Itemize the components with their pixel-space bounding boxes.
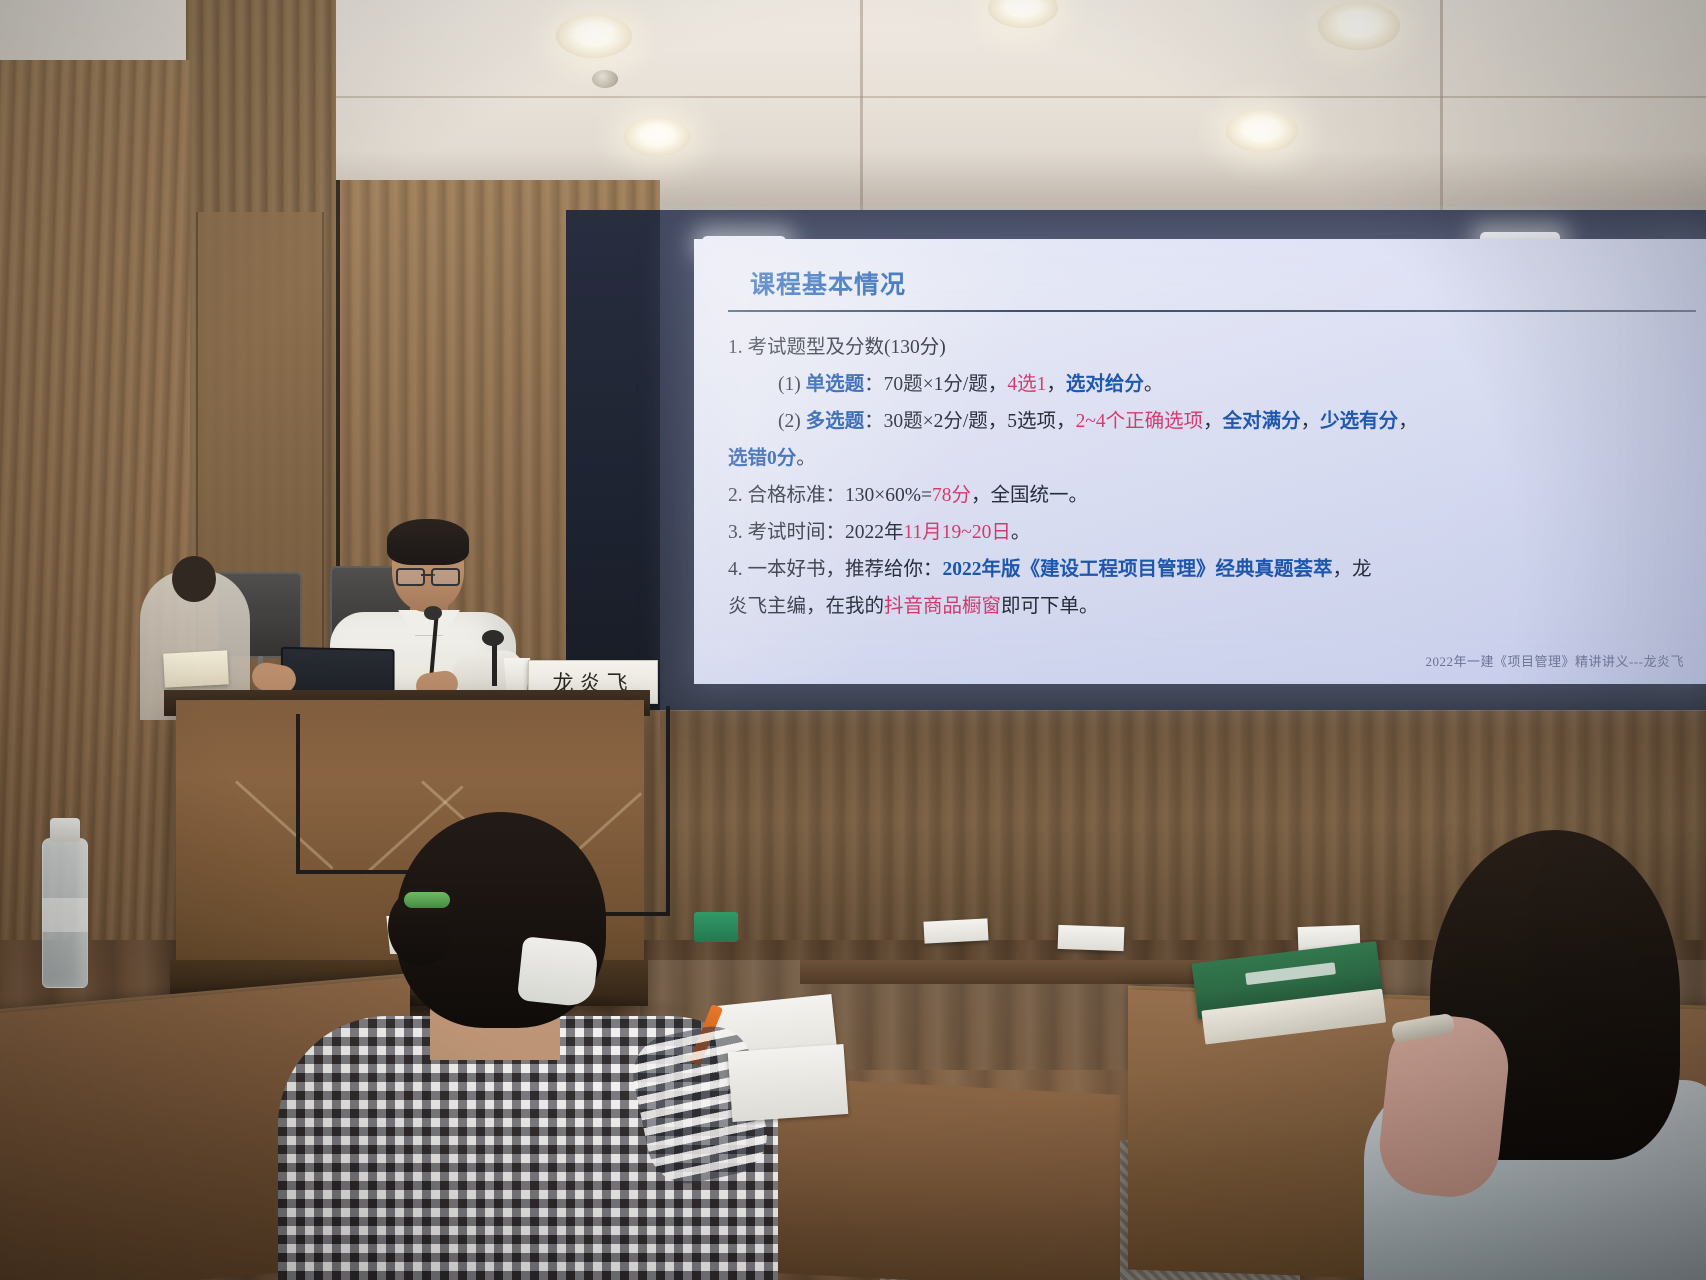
slide-body: 1. 考试题型及分数(130分)(1) 单选题：70题×1分/题，4选1，选对给… <box>728 332 1676 622</box>
hair-tie <box>404 892 450 908</box>
slide-text-segment: 。 <box>1144 374 1164 395</box>
microphone-icon <box>482 630 504 646</box>
slide-text-segment: ：70题×1分/题， <box>864 374 1007 395</box>
slide-text-segment: 11月19~20日 <box>904 522 1011 543</box>
green-box-on-floor <box>694 912 738 942</box>
slide-text-segment: 选对给分 <box>1066 374 1144 395</box>
slide-text-segment: ，全国统一。 <box>971 485 1088 506</box>
slide-text-segment: 。 <box>1011 522 1031 543</box>
photo-scene: 课程基本情况 1. 考试题型及分数(130分)(1) 单选题：70题×1分/题，… <box>0 0 1706 1280</box>
slide-title-divider <box>728 310 1696 312</box>
bottle-cap <box>50 818 80 842</box>
slide-text-segment: ：30题×2分/题，5选项， <box>864 411 1075 432</box>
slide-text-segment: 多选题 <box>806 411 865 432</box>
notebook-on-floor <box>1058 925 1125 951</box>
slide-text-segment: ， <box>1046 374 1066 395</box>
slide-text-segment: 抖音商品橱窗 <box>884 596 1001 617</box>
slide-text-segment: 78分 <box>932 485 971 506</box>
notebook-on-floor <box>923 918 988 943</box>
slide-text-segment: ， <box>1301 411 1321 432</box>
slide-text-segment: 炎飞主编，在我的 <box>728 596 884 617</box>
slide-text-segment: 4选1 <box>1007 374 1046 395</box>
downlight-icon <box>556 14 632 58</box>
face-mask <box>517 936 599 1008</box>
background-person-head <box>172 556 216 602</box>
microphone-icon <box>424 606 442 620</box>
slide-text-segment: 即可下单。 <box>1001 596 1099 617</box>
slide-line-item-2: 2. 合格标准：130×60%=78分，全国统一。 <box>728 480 1676 511</box>
slide-text-segment: 1. 考试题型及分数(130分) <box>728 337 946 358</box>
speaker-hair <box>387 519 469 565</box>
slide-line-item-4: 4. 一本好书，推荐给你：2022年版《建设工程项目管理》经典真题荟萃，龙 <box>728 554 1676 585</box>
slide-line-item-3: 3. 考试时间：2022年11月19~20日。 <box>728 517 1676 548</box>
slide-text-segment: 3. 考试时间：2022年 <box>728 522 904 543</box>
slide-text-segment: ，龙 <box>1333 559 1372 580</box>
slide-line-item-4-cont: 炎飞主编，在我的抖音商品橱窗即可下单。 <box>728 591 1676 622</box>
slide-text-segment: 2022年版《建设工程项目管理》经典真题荟萃 <box>943 559 1333 580</box>
book-title-band <box>1245 962 1336 985</box>
downlight-icon <box>624 118 690 156</box>
slide-text-segment: 少选有分 <box>1320 411 1398 432</box>
slide-text-segment: 2~4个正确选项 <box>1076 411 1204 432</box>
slide-text-segment: 全对满分 <box>1223 411 1301 432</box>
slide-line-item-1: 1. 考试题型及分数(130分) <box>728 332 1676 363</box>
slide-content: 课程基本情况 1. 考试题型及分数(130分)(1) 单选题：70题×1分/题，… <box>694 239 1706 684</box>
downlight-icon <box>1318 2 1400 50</box>
slide-text-segment: ， <box>1398 411 1418 432</box>
slide-line-item-1-2: (2) 多选题：30题×2分/题，5选项，2~4个正确选项，全对满分，少选有分， <box>728 406 1676 437</box>
open-notebook <box>728 1044 849 1122</box>
slide-footer: 2022年一建《项目管理》精讲讲义---龙炎飞 <box>1426 651 1685 670</box>
bottle-label <box>42 898 88 932</box>
papers-on-desk <box>163 650 229 687</box>
slide-text-segment: 2. 合格标准：130×60%= <box>728 485 932 506</box>
slide-text-segment: ， <box>1203 411 1223 432</box>
slide-text-segment: 4. 一本好书，推荐给你： <box>728 559 943 580</box>
slide-text-segment: (2) <box>778 411 806 432</box>
smoke-detector-icon <box>592 70 618 88</box>
slide-text-segment: 选错0分 <box>728 448 796 469</box>
slide-title: 课程基本情况 <box>750 265 1676 301</box>
projected-slide: 课程基本情况 1. 考试题型及分数(130分)(1) 单选题：70题×1分/题，… <box>694 239 1706 684</box>
slide-text-segment: (1) <box>778 374 806 395</box>
slide-text-segment: 单选题 <box>806 374 865 395</box>
slide-line-item-1-2-cont: 选错0分。 <box>728 443 1676 474</box>
microphone-stand <box>492 640 497 686</box>
slide-line-item-1-1: (1) 单选题：70题×1分/题，4选1，选对给分。 <box>728 369 1676 400</box>
downlight-icon <box>1226 110 1298 152</box>
glasses-icon <box>396 568 460 583</box>
slide-text-segment: 。 <box>796 448 816 469</box>
